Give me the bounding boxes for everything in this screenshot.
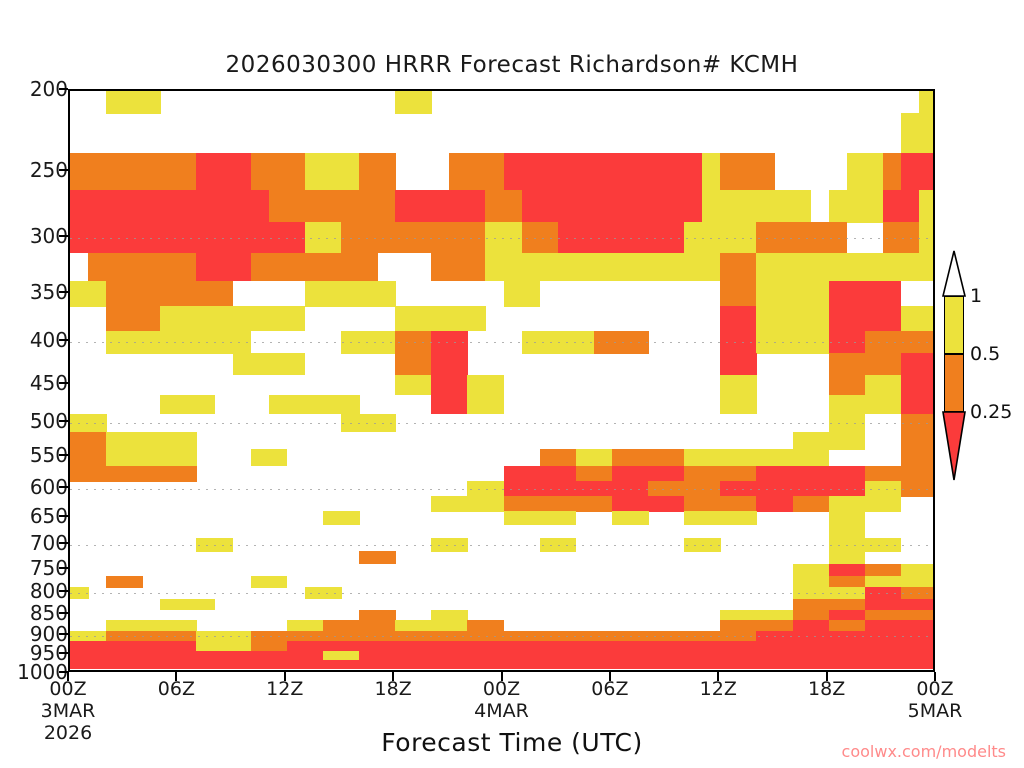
x-tick-time: 12Z xyxy=(700,678,737,700)
x-tick-time: 00Z xyxy=(474,678,529,700)
x-axis-tick-label: 06Z xyxy=(158,678,195,700)
x-axis-tick-label: 12Z xyxy=(266,678,303,700)
x-tick-time: 00Z xyxy=(41,678,96,700)
x-tick-time: 06Z xyxy=(591,678,628,700)
chart-canvas: 2026030300 HRRR Forecast Richardson# KCM… xyxy=(0,0,1024,768)
x-tick-time: 00Z xyxy=(908,678,963,700)
x-axis: 00Z3MAR202606Z12Z18Z00Z4MAR06Z12Z18Z00Z5… xyxy=(0,0,1024,768)
x-tick-date: 5MAR xyxy=(908,700,963,722)
brand-watermark: coolwx.com/modelts xyxy=(842,742,1006,761)
colorbar-segment-yellow xyxy=(944,296,964,354)
x-axis-tick-label: 00Z4MAR xyxy=(474,678,529,722)
x-tick-time: 12Z xyxy=(266,678,303,700)
x-tick-time: 18Z xyxy=(375,678,412,700)
x-axis-tick-label: 00Z5MAR xyxy=(908,678,963,722)
colorbar-label-0p25: 0.25 xyxy=(970,401,1012,423)
x-axis-tick-label: 06Z xyxy=(591,678,628,700)
colorbar-top-arrow-outline xyxy=(942,250,966,297)
x-tick-date: 3MAR xyxy=(41,700,96,722)
colorbar-segment-orange xyxy=(944,354,964,412)
x-axis-tick-label: 18Z xyxy=(375,678,412,700)
colorbar-label-1: 1 xyxy=(970,285,982,307)
x-axis-tick-label: 12Z xyxy=(700,678,737,700)
colorbar-bottom-arrow xyxy=(942,411,966,482)
colorbar-label-0p5: 0.5 xyxy=(970,343,1000,365)
colorbar-legend: 10.50.25 xyxy=(944,296,964,472)
x-tick-date: 4MAR xyxy=(474,700,529,722)
x-tick-time: 18Z xyxy=(808,678,845,700)
x-tick-time: 06Z xyxy=(158,678,195,700)
x-axis-tick-label: 18Z xyxy=(808,678,845,700)
